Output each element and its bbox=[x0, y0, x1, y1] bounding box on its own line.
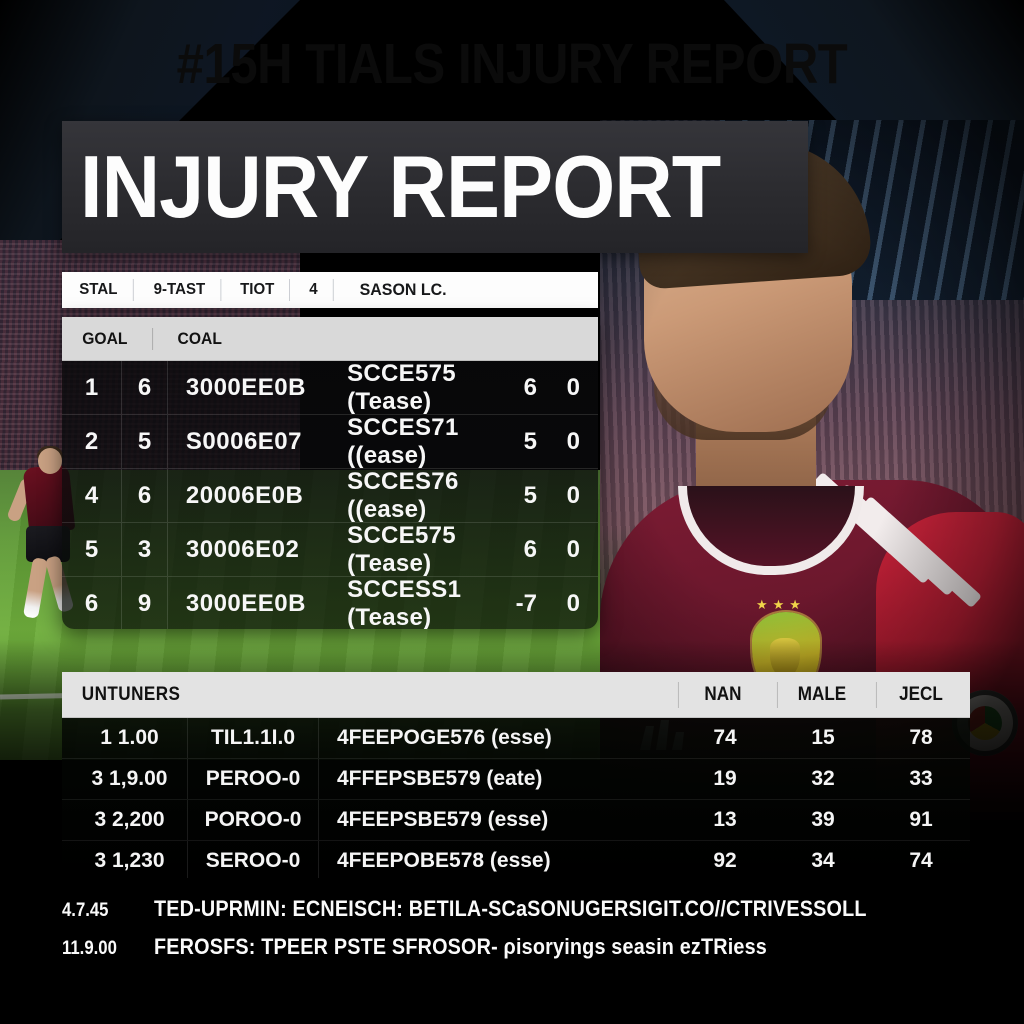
cell-male: 32 bbox=[774, 767, 872, 791]
lower-header-nan: NAN bbox=[678, 682, 767, 708]
tab-9-tast[interactable]: 9-TAST bbox=[138, 279, 221, 301]
cell-date: 3 1,9.00 bbox=[62, 759, 188, 799]
cell-code: 3000EE0B bbox=[168, 590, 347, 618]
cell-num-a: 6 bbox=[507, 536, 537, 564]
lower-header-male: MALE bbox=[777, 682, 866, 708]
page-title: INJURY REPORT bbox=[80, 141, 720, 233]
cell-ref: SEROO-0 bbox=[188, 841, 319, 878]
footer-line-2-number: 11.9.00 bbox=[62, 938, 143, 960]
cell-value: 3 bbox=[121, 523, 168, 576]
cell-value: 9 bbox=[121, 577, 168, 629]
table-row[interactable]: 1 6 3000EE0B SCCE575 (Tease) 6 0 bbox=[62, 361, 598, 415]
cell-desc: 4FEEPOBE578 (esse) bbox=[319, 849, 676, 873]
cell-num-a: -7 bbox=[507, 590, 537, 618]
list-item[interactable]: 1 1.00 TIL1.1I.0 4FEEPOGE576 (esse) 74 1… bbox=[62, 718, 970, 759]
cell-rank: 6 bbox=[62, 590, 121, 618]
tab-sason-lc[interactable]: SASON LC. bbox=[339, 279, 462, 301]
cell-male: 15 bbox=[774, 726, 872, 750]
footer-line-1-text: TED-UPRMIN: ECNEISCH: BETILA-SCaSONUGERS… bbox=[154, 896, 867, 922]
cell-label: SCCE575 (Tease) bbox=[347, 522, 506, 578]
footer-line-2-text: FEROSFS: TPEER PSTE SFROSOR- ρisoryings … bbox=[154, 934, 767, 960]
tab-4[interactable]: 4 bbox=[294, 279, 333, 301]
table-row[interactable]: 4 6 20006E0B SCCES76 ((ease) 5 0 bbox=[62, 469, 598, 523]
cell-nan: 13 bbox=[676, 808, 774, 832]
table-row[interactable]: 6 9 3000EE0B SCCESS1 (Tease) -7 0 bbox=[62, 577, 598, 629]
list-item[interactable]: 3 2,200 POROO-0 4FEEPSBE579 (esse) 13 39… bbox=[62, 800, 970, 841]
cell-code: 20006E0B bbox=[168, 482, 347, 510]
cell-desc: 4FEEPSBE579 (esse) bbox=[319, 808, 676, 832]
cell-value: 6 bbox=[121, 361, 168, 414]
cell-code: S0006E07 bbox=[168, 428, 347, 456]
cell-num-b: 0 bbox=[537, 590, 598, 618]
tab-stal[interactable]: STAL bbox=[64, 279, 133, 301]
cell-rank: 4 bbox=[62, 482, 121, 510]
cell-date: 1 1.00 bbox=[62, 718, 188, 758]
lower-header-title: UNTUNERS bbox=[62, 684, 612, 706]
cell-jecl: 91 bbox=[872, 808, 970, 832]
cell-rank: 5 bbox=[62, 536, 121, 564]
cell-nan: 74 bbox=[676, 726, 774, 750]
cell-label: SCCES71 ((ease) bbox=[347, 414, 506, 470]
cell-code: 30006E02 bbox=[168, 536, 347, 564]
title-block: INJURY REPORT bbox=[62, 121, 808, 253]
cell-code: 3000EE0B bbox=[168, 374, 347, 402]
cell-date: 3 1,230 bbox=[62, 841, 188, 878]
cell-num-a: 5 bbox=[507, 482, 537, 510]
poster-canvas: ★★★ #15H TIALS INJURY REPORT INJURY REPO… bbox=[0, 0, 1024, 1024]
cell-ref: TIL1.1I.0 bbox=[188, 718, 319, 758]
upper-header-coal: COAL bbox=[161, 328, 235, 350]
cell-num-b: 0 bbox=[537, 482, 598, 510]
upper-header-goal: GOAL bbox=[62, 328, 153, 350]
cell-value: 5 bbox=[121, 415, 168, 468]
tab-bar[interactable]: STAL 9-TAST TIOT 4 SASON LC. bbox=[62, 272, 598, 308]
cell-nan: 92 bbox=[676, 849, 774, 873]
cell-desc: 4FEEPOGE576 (esse) bbox=[319, 726, 676, 750]
cell-label: SCCE575 (Tease) bbox=[347, 360, 506, 416]
cell-num-b: 0 bbox=[537, 536, 598, 564]
lower-table-header-row: UNTUNERS NAN MALE JECL bbox=[62, 672, 970, 718]
cell-date: 3 2,200 bbox=[62, 800, 188, 840]
cell-label: SCCES76 ((ease) bbox=[347, 468, 506, 524]
table-row[interactable]: 5 3 30006E02 SCCE575 (Tease) 6 0 bbox=[62, 523, 598, 577]
cell-ref: PEROO-0 bbox=[188, 759, 319, 799]
cell-rank: 2 bbox=[62, 428, 121, 456]
upper-table-header-row: GOAL COAL bbox=[62, 317, 598, 361]
page-headline: #15H TIALS INJURY REPORT bbox=[72, 36, 953, 93]
cell-ref: POROO-0 bbox=[188, 800, 319, 840]
list-item[interactable]: 3 1,230 SEROO-0 4FEEPOBE578 (esse) 92 34… bbox=[62, 841, 970, 878]
cell-jecl: 78 bbox=[872, 726, 970, 750]
cell-desc: 4FFEPSBE579 (eate) bbox=[319, 767, 676, 791]
cell-nan: 19 bbox=[676, 767, 774, 791]
cell-rank: 1 bbox=[62, 374, 121, 402]
cell-num-a: 6 bbox=[507, 374, 537, 402]
cell-label: SCCESS1 (Tease) bbox=[347, 576, 506, 630]
cell-jecl: 33 bbox=[872, 767, 970, 791]
cell-value: 6 bbox=[121, 469, 168, 522]
lower-stats-panel: UNTUNERS NAN MALE JECL 1 1.00 TIL1.1I.0 … bbox=[62, 672, 970, 878]
cell-num-a: 5 bbox=[507, 428, 537, 456]
footer-line-1: 4.7.45 TED-UPRMIN: ECNEISCH: BETILA-SCaS… bbox=[62, 896, 946, 922]
footer-line-1-number: 4.7.45 bbox=[62, 900, 143, 922]
upper-stats-panel: GOAL COAL 1 6 3000EE0B SCCE575 (Tease) 6… bbox=[62, 317, 598, 629]
footer-line-2: 11.9.00 FEROSFS: TPEER PSTE SFROSOR- ρis… bbox=[62, 934, 835, 960]
cell-num-b: 0 bbox=[537, 374, 598, 402]
cell-jecl: 74 bbox=[872, 849, 970, 873]
tab-tiot[interactable]: TIOT bbox=[225, 279, 290, 301]
list-item[interactable]: 3 1,9.00 PEROO-0 4FFEPSBE579 (eate) 19 3… bbox=[62, 759, 970, 800]
table-row[interactable]: 2 5 S0006E07 SCCES71 ((ease) 5 0 bbox=[62, 415, 598, 469]
lower-header-jecl: JECL bbox=[876, 682, 965, 708]
cell-male: 34 bbox=[774, 849, 872, 873]
cell-male: 39 bbox=[774, 808, 872, 832]
cell-num-b: 0 bbox=[537, 428, 598, 456]
